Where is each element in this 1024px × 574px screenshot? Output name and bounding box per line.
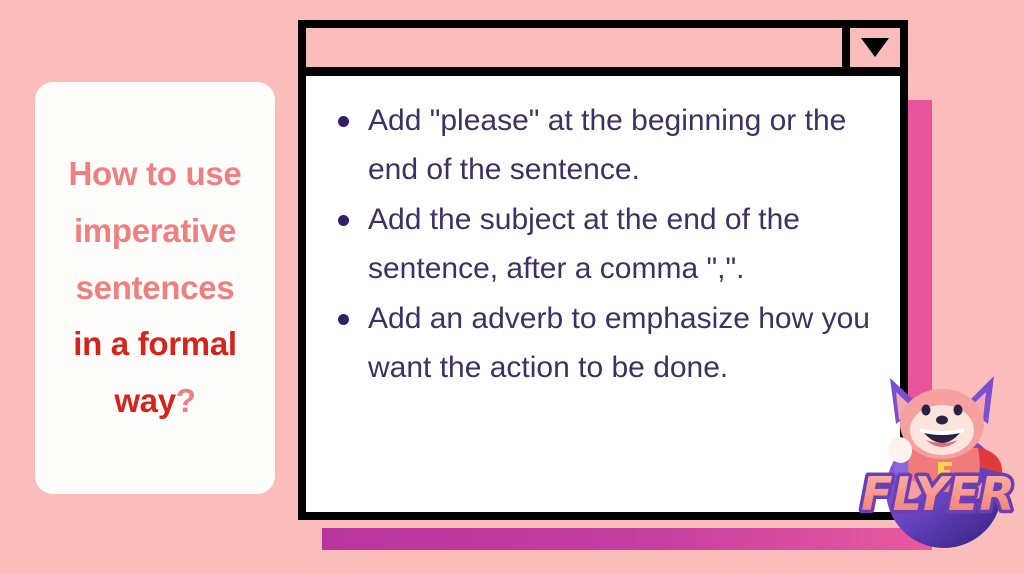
title-line-1: How to use bbox=[68, 155, 241, 192]
flyer-logo: FLYER bbox=[852, 362, 1024, 552]
flyer-wordmark: FLYER bbox=[861, 467, 1015, 521]
tips-list: Add "please" at the beginning or the end… bbox=[306, 76, 900, 393]
flyer-mascot-icon: FLYER bbox=[852, 362, 1024, 552]
list-item: Add "please" at the beginning or the end… bbox=[326, 97, 882, 194]
caret-down-icon bbox=[861, 38, 889, 57]
main-window: Add "please" at the beginning or the end… bbox=[298, 20, 908, 520]
dropdown-button[interactable] bbox=[842, 28, 900, 67]
title-question-mark: ? bbox=[176, 382, 196, 419]
list-item-text: Add "please" at the beginning or the end… bbox=[368, 104, 846, 186]
list-item-text: Add an adverb to emphasize how you want … bbox=[368, 302, 870, 384]
title-line-5: way bbox=[114, 382, 175, 419]
title-line-3: sentences bbox=[76, 269, 235, 306]
bullet-icon bbox=[338, 215, 349, 226]
window-titlebar bbox=[298, 20, 908, 76]
page-title: How to use imperative sentences in a for… bbox=[68, 146, 241, 430]
titlebar-input[interactable] bbox=[306, 28, 842, 67]
window-body: Add "please" at the beginning or the end… bbox=[298, 76, 908, 520]
list-item-text: Add the subject at the end of the senten… bbox=[368, 203, 800, 285]
window-shadow-bottom bbox=[322, 528, 932, 550]
title-line-2: imperative bbox=[74, 212, 236, 249]
bullet-icon bbox=[338, 314, 349, 325]
title-card: How to use imperative sentences in a for… bbox=[35, 82, 275, 494]
list-item: Add the subject at the end of the senten… bbox=[326, 196, 882, 293]
list-item: Add an adverb to emphasize how you want … bbox=[326, 295, 882, 392]
bullet-icon bbox=[338, 116, 349, 127]
title-line-4: in a formal bbox=[73, 325, 237, 362]
